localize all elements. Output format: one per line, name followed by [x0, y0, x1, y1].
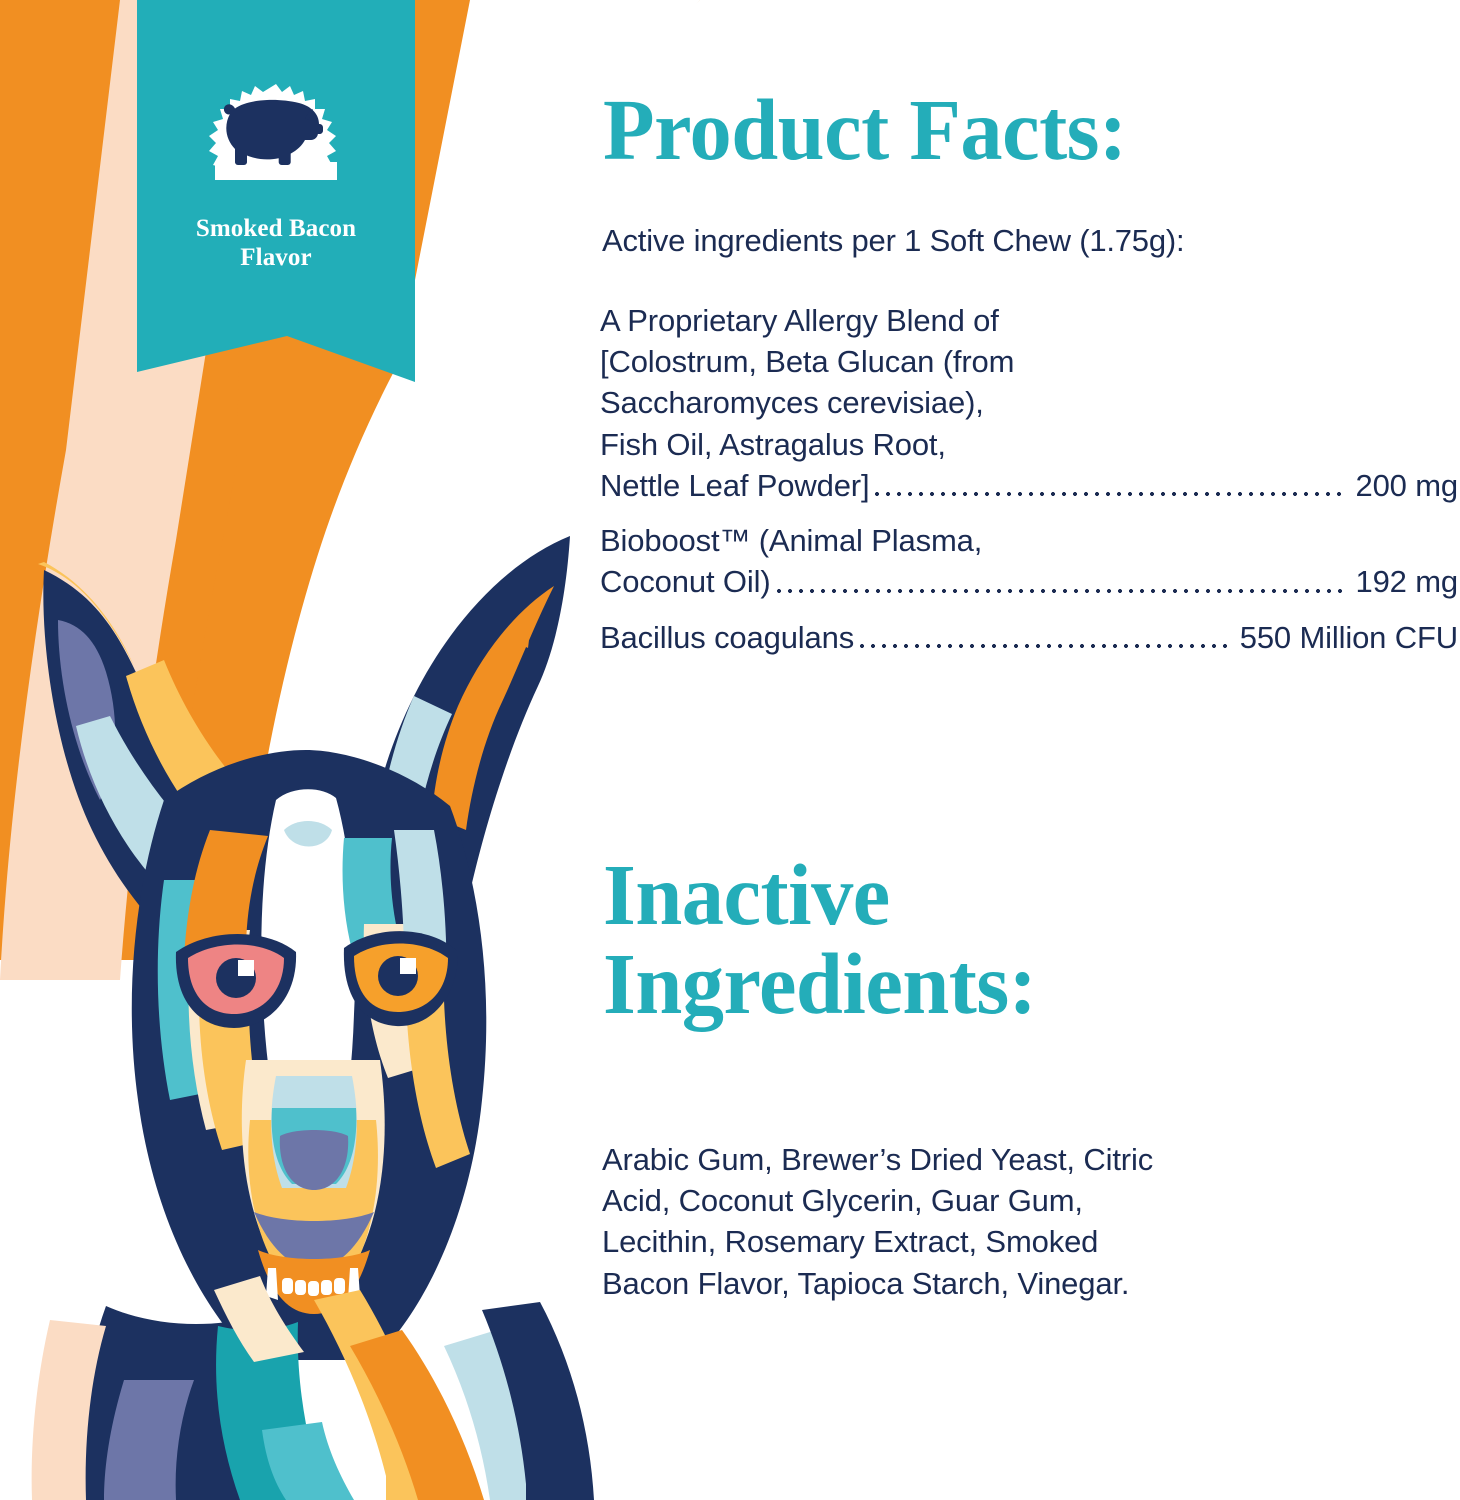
leader-dots: [875, 475, 1346, 506]
inactive-line: Acid, Coconut Glycerin, Guar Gum,: [602, 1180, 1422, 1221]
ingredient-entry: Bioboost™ (Animal Plasma, Coconut Oil) 1…: [600, 520, 1460, 602]
product-facts-label: Smoked Bacon Flavor: [0, 0, 1460, 1500]
flavor-banner: Smoked Bacon Flavor: [137, 0, 415, 385]
ingredient-amount: 550 Million CFU: [1240, 617, 1458, 658]
ingredient-entry: A Proprietary Allergy Blend of [Colostru…: [600, 300, 1460, 506]
facts-content: Product Facts: Active ingredients per 1 …: [600, 0, 1460, 1500]
inactive-ingredients-title: Inactive Ingredients:: [603, 851, 1379, 1028]
ingredient-name: Coconut Oil): [600, 561, 771, 602]
ingredient-amount: 192 mg: [1356, 561, 1459, 602]
page-title: Product Facts:: [603, 86, 1127, 173]
inactive-ingredients-text: Arabic Gum, Brewer’s Dried Yeast, Citric…: [602, 1139, 1422, 1304]
inactive-title-line-2: Ingredients:: [603, 935, 1036, 1032]
ingredient-name: Nettle Leaf Powder]: [600, 465, 869, 506]
dog-illustration: [14, 500, 594, 1500]
ingredient-line: Bioboost™ (Animal Plasma,: [600, 520, 1460, 561]
ingredient-amount: 200 mg: [1356, 465, 1459, 506]
leader-dots: [777, 572, 1347, 603]
inactive-line: Arabic Gum, Brewer’s Dried Yeast, Citric: [602, 1139, 1422, 1180]
ingredient-line: [Colostrum, Beta Glucan (from: [600, 341, 1460, 382]
inactive-line: Bacon Flavor, Tapioca Starch, Vinegar.: [602, 1263, 1422, 1304]
inactive-title-line-1: Inactive: [603, 846, 890, 943]
ingredient-line: Fish Oil, Astragalus Root,: [600, 424, 1460, 465]
active-ingredients-list: A Proprietary Allergy Blend of [Colostru…: [600, 300, 1460, 672]
flavor-line-2: Flavor: [240, 244, 311, 271]
serving-subtitle: Active ingredients per 1 Soft Chew (1.75…: [602, 222, 1184, 259]
ingredient-line: A Proprietary Allergy Blend of: [600, 300, 1460, 341]
pig-silhouette-badge: [201, 78, 351, 200]
ingredient-line: Saccharomyces cerevisiae),: [600, 382, 1460, 423]
flavor-label: Smoked Bacon Flavor: [156, 214, 396, 273]
ingredient-entry: Bacillus coagulans 550 Million CFU: [600, 617, 1460, 658]
leader-dots: [860, 627, 1231, 658]
flavor-line-1: Smoked Bacon: [196, 215, 356, 242]
ingredient-name: Bacillus coagulans: [600, 617, 854, 658]
inactive-line: Lecithin, Rosemary Extract, Smoked: [602, 1221, 1422, 1262]
